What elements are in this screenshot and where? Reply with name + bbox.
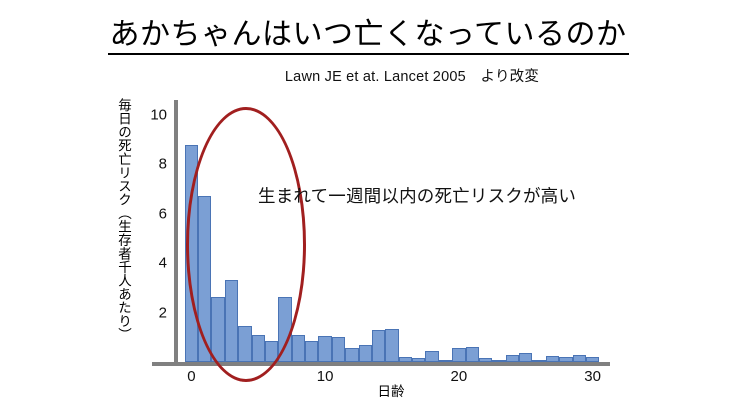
y-tick-label: 6 <box>159 205 167 222</box>
histogram-bar <box>305 341 318 362</box>
chart-annotation-text: 生まれて一週間以内の死亡リスクが高い <box>258 183 576 208</box>
histogram-bar <box>359 345 372 362</box>
y-tick-label: 4 <box>159 255 167 272</box>
histogram-bar <box>532 360 545 362</box>
citation-subtitle: Lawn JE et at. Lancet 2005 より改変 <box>0 65 736 86</box>
histogram-bar <box>292 335 305 362</box>
x-axis-line <box>152 362 610 366</box>
histogram-bar <box>412 358 425 362</box>
histogram-bar <box>479 358 492 362</box>
histogram-bar <box>198 196 211 362</box>
page-title: あかちゃんはいつ亡くなっているのか <box>108 18 629 55</box>
x-tick-label: 20 <box>451 368 468 385</box>
histogram-bar <box>332 337 345 362</box>
bar-series <box>178 100 606 362</box>
histogram-bar <box>466 347 479 362</box>
x-tick-label: 0 <box>187 368 195 385</box>
histogram-bar <box>452 348 465 362</box>
histogram-bar <box>372 330 385 362</box>
histogram-bar <box>265 341 278 362</box>
y-tick-label: 10 <box>150 106 167 123</box>
histogram-bar <box>238 326 251 362</box>
x-tick-label: 30 <box>584 368 601 385</box>
x-axis-title: 日齢 <box>0 380 736 400</box>
y-axis-title: 毎日の死亡リスク（生存者千人あたり） <box>108 98 130 341</box>
histogram-bar <box>573 355 586 362</box>
histogram-bar <box>225 280 238 362</box>
histogram-bar <box>211 297 224 363</box>
histogram-bar <box>252 335 265 362</box>
histogram-bar <box>399 357 412 362</box>
histogram-bar <box>345 348 358 362</box>
y-tick-label: 2 <box>159 304 167 321</box>
histogram-bar <box>385 329 398 362</box>
histogram-bar <box>586 357 599 362</box>
histogram-bar <box>546 356 559 362</box>
y-tick-label: 8 <box>159 156 167 173</box>
histogram-bar <box>492 360 505 362</box>
slide-canvas: あかちゃんはいつ亡くなっているのか Lawn JE et at. Lancet … <box>0 0 736 414</box>
histogram-bar <box>506 355 519 362</box>
histogram-bar <box>519 353 532 362</box>
histogram-bar <box>559 357 572 362</box>
histogram-bar <box>185 145 198 363</box>
histogram-bar <box>439 360 452 362</box>
histogram-plot-area: 246810 0102030 <box>174 100 606 362</box>
histogram-bar <box>425 351 438 362</box>
histogram-bar <box>278 297 291 363</box>
title-container: あかちゃんはいつ亡くなっているのか <box>0 18 736 55</box>
x-tick-label: 10 <box>317 368 334 385</box>
histogram-bar <box>318 336 331 362</box>
